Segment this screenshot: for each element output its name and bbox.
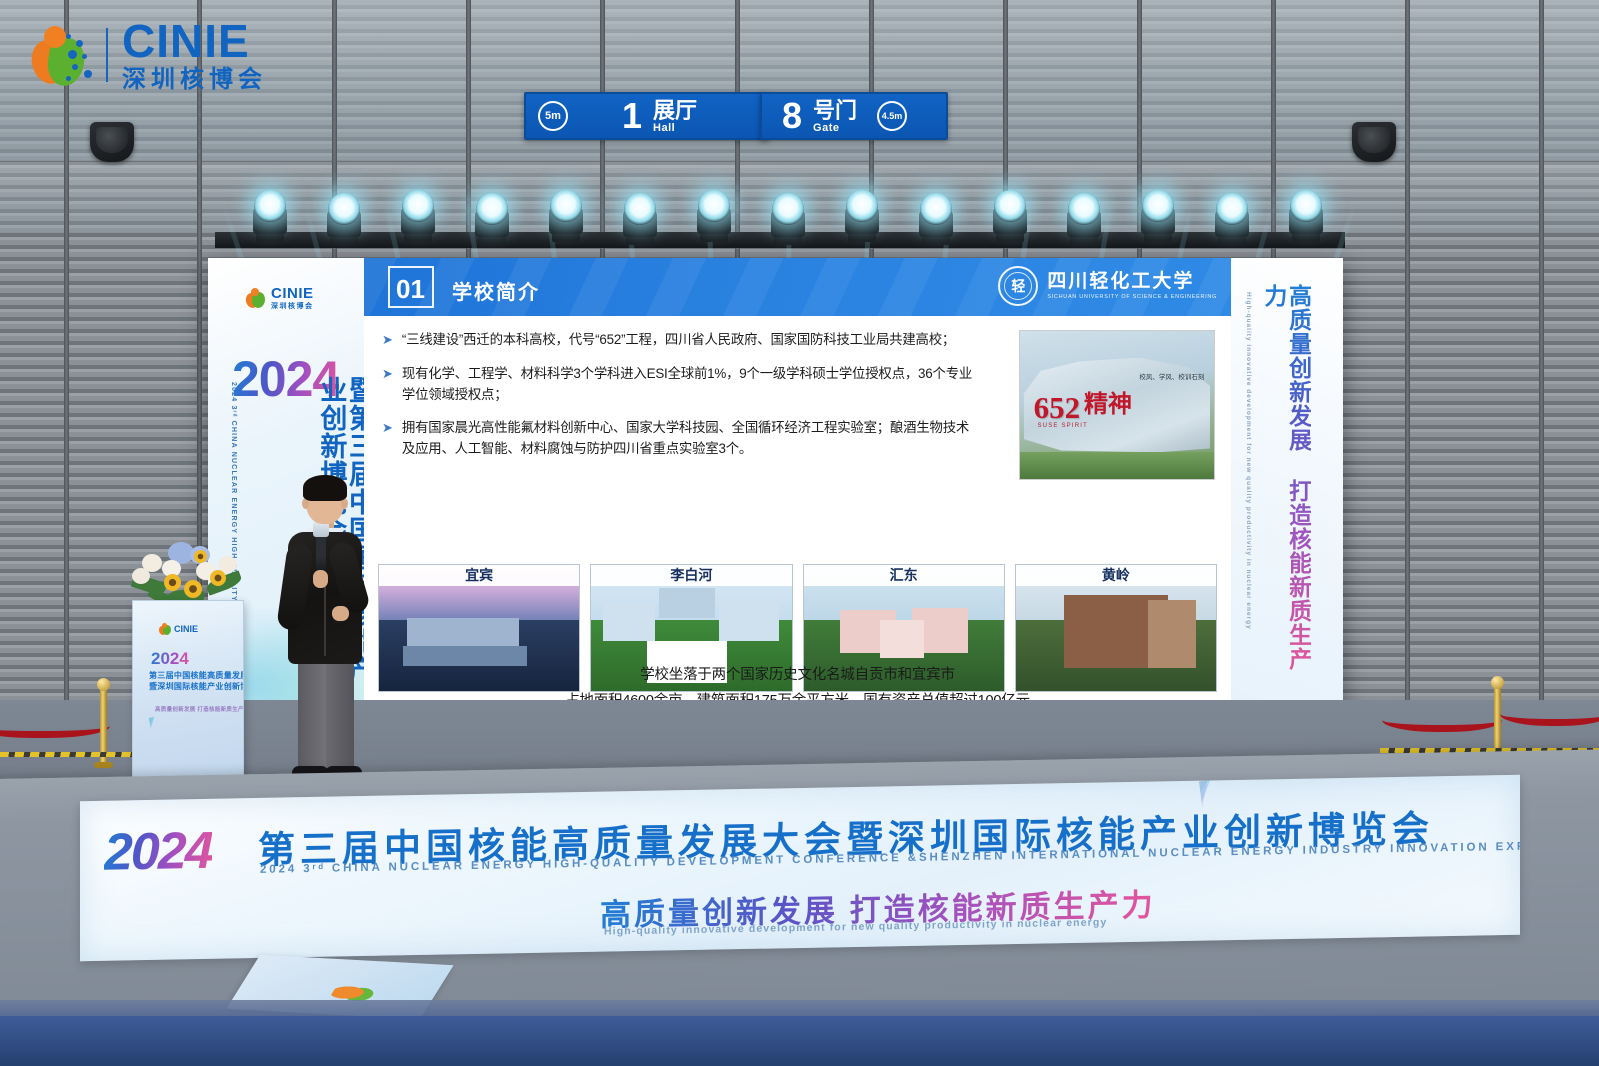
slide-body: ➤“三线建设”西迁的本科高校，代号“652”工程，四川省人民政府、国家国防科技工… [364, 316, 1231, 720]
campus-name: 李白河 [591, 565, 791, 586]
footer-line-1: 学校坐落于两个国家历史文化名城自贡市和宜宾市 [364, 663, 1231, 684]
hand-left [313, 570, 328, 588]
conference-stage-photo: CINIE 深圳核博会 5m 1 展厅 Hall 8 号门 Gate 4.5m [0, 0, 1599, 1066]
leg-left [298, 658, 326, 770]
moving-head-light [622, 193, 658, 245]
left-banner-acronym: CINIE [271, 286, 314, 301]
gate-label-en: Gate [813, 122, 857, 134]
led-presentation-screen: CINIE 深圳核博会 2024 2024 3ʳᵈ CHINA NUCLEAR … [208, 258, 1343, 720]
bullet-item: ➤现有化学、工程学、材料科学3个学科进入ESI全球前1%，9个一级学科硕士学位授… [382, 364, 982, 406]
podium-year: 2024 [151, 649, 189, 669]
moving-head-light [548, 190, 584, 242]
gate-sign: 8 号门 Gate 4.5m [760, 92, 948, 140]
rock-652-text: 652 [1034, 390, 1081, 426]
podium-line-1: 第三届中国核能高质量发展大会 [149, 670, 244, 681]
powerpoint-slide: 01 学校简介 轻 四川轻化工大学 SICHUAN UNIVERSITY OF … [364, 258, 1231, 720]
moving-head-light [1288, 190, 1324, 242]
moving-head-light [918, 193, 954, 245]
cinie-leaf-logo-icon [159, 623, 171, 635]
bullet-list: ➤“三线建设”西迁的本科高校，代号“652”工程，四川省人民政府、国家国防科技工… [382, 330, 982, 460]
moving-head-light [400, 190, 436, 242]
moving-head-light [844, 190, 880, 242]
left-banner-cn: 深圳核博会 [271, 303, 314, 310]
hall-number: 1 [622, 98, 642, 134]
bullet-chevron-icon: ➤ [382, 418, 393, 460]
floor-trim-lower [0, 1016, 1599, 1066]
bullet-chevron-icon: ➤ [382, 330, 393, 351]
hall-label-cn: 展厅 [653, 99, 697, 122]
horn-speaker [90, 122, 134, 162]
presenter-person [272, 478, 376, 788]
moving-head-light [1214, 193, 1250, 245]
podium-line-2: 暨深圳国际核能产业创新博览会 [149, 681, 244, 692]
cinie-leaf-logo-icon [246, 288, 266, 308]
stage-front-banner: 2024 第三届中国核能高质量发展大会暨深圳国际核能产业创新博览会 2024 3… [80, 775, 1520, 961]
campus-name: 汇东 [804, 565, 1004, 586]
moving-head-light [252, 190, 288, 242]
seal-glyph: 轻 [1011, 279, 1025, 293]
bullet-text: “三线建设”西迁的本科高校，代号“652”工程，四川省人民政府、国家国防科技工业… [402, 330, 955, 351]
campus-name: 宜宾 [379, 565, 579, 586]
moving-head-light [474, 193, 510, 245]
cinie-chinese-name: 深圳核博会 [122, 68, 267, 92]
leg-right [326, 658, 354, 770]
campus-rock-photo: 652 精神 SUSE SPIRIT 校风、学风、校训石刻 [1019, 330, 1215, 480]
velvet-rope [1500, 700, 1599, 726]
gate-label-cn: 号门 [813, 99, 857, 122]
section-title: 学校简介 [452, 276, 540, 305]
cinie-leaf-logo-icon [30, 24, 92, 86]
hall-sign: 5m 1 展厅 Hall [524, 92, 769, 140]
right-banner-slogan-en: High-quality innovative development for … [1245, 292, 1252, 652]
university-name-en: SICHUAN UNIVERSITY OF SCIENCE & ENGINEER… [1047, 294, 1217, 300]
moving-head-light [326, 193, 362, 245]
bullet-text: 现有化学、工程学、材料科学3个学科进入ESI全球前1%，9个一级学科硕士学位授权… [402, 364, 982, 406]
speaker-podium: CINIE 2024 第三届中国核能高质量发展大会 暨深圳国际核能产业创新博览会… [132, 600, 244, 778]
rock-spirit-cn: 精神 [1084, 384, 1132, 419]
university-name-cn: 四川轻化工大学 [1047, 272, 1217, 293]
logo-divider [106, 28, 108, 82]
podium-acronym: CINIE [174, 624, 198, 634]
rock-spirit-en: SUSE SPIRIT [1037, 423, 1088, 429]
height-marker-4p5m: 4.5m [877, 101, 907, 131]
hair [303, 475, 347, 501]
bullet-chevron-icon: ➤ [382, 364, 393, 406]
cinie-acronym: CINIE [122, 18, 267, 64]
left-banner-logo: CINIE 深圳核博会 [246, 286, 314, 310]
right-banner-slogan-cn: 高质量创新发展 打造核能新质生产力 [1261, 284, 1311, 674]
moving-head-light [1066, 193, 1102, 245]
velvet-rope [1382, 706, 1502, 732]
bullet-text: 拥有国家晨光高性能氟材料创新中心、国家大学科技园、全国循环经济工程实验室；酿酒生… [402, 418, 982, 460]
cinie-logo: CINIE 深圳核博会 [30, 18, 267, 92]
bullet-item: ➤拥有国家晨光高性能氟材料创新中心、国家大学科技园、全国循环经济工程实验室；酿酒… [382, 418, 982, 460]
height-marker-5m: 5m [538, 101, 568, 131]
moving-head-light [696, 190, 732, 242]
moving-head-light [1140, 190, 1176, 242]
university-seal-icon: 轻 [998, 266, 1038, 306]
gate-number: 8 [782, 98, 802, 134]
podium-line-3: 高质量创新发展 打造核能新质生产力 [155, 705, 244, 713]
screen-right-banner: High-quality innovative development for … [1231, 258, 1343, 720]
horn-speaker [1352, 122, 1396, 162]
university-logo: 轻 四川轻化工大学 SICHUAN UNIVERSITY OF SCIENCE … [998, 266, 1217, 306]
section-number: 01 [396, 274, 425, 305]
hall-label-en: Hall [653, 122, 697, 134]
rock-calligraphy: 校风、学风、校训石刻 [1123, 372, 1204, 384]
hand-right [332, 606, 349, 621]
campus-name: 黄岭 [1016, 565, 1216, 586]
flower-arrangement [128, 528, 250, 608]
moving-head-light [992, 190, 1028, 242]
bullet-item: ➤“三线建设”西迁的本科高校，代号“652”工程，四川省人民政府、国家国防科技工… [382, 330, 982, 351]
microphone-head [313, 522, 329, 537]
podium-logo: CINIE [159, 623, 198, 635]
moving-head-light [770, 193, 806, 245]
banner-year: 2024 [104, 821, 212, 883]
